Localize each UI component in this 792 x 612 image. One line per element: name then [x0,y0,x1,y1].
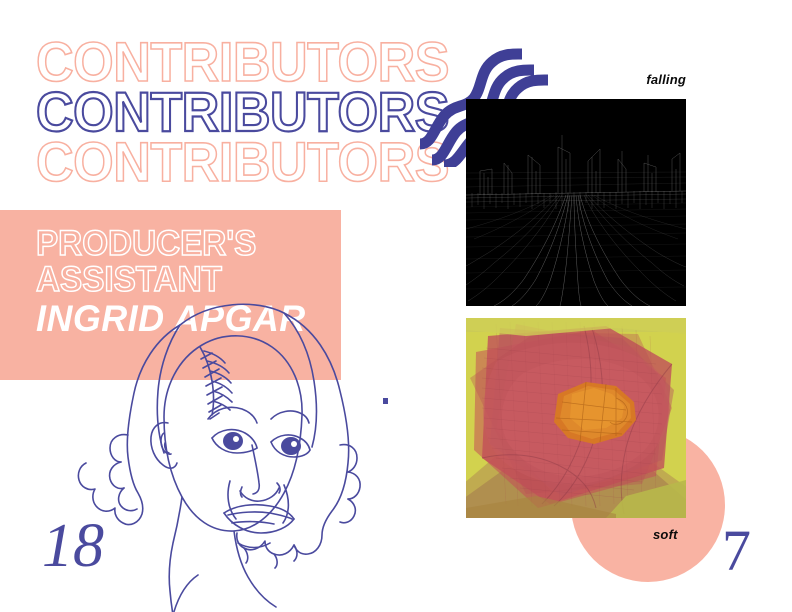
page-canvas: CONTRIBUTORS CONTRIBUTORS CONTRIBUTORS P… [0,0,792,612]
role-line-2: ASSISTANT [36,262,222,297]
artwork-caption-soft: soft [653,527,678,542]
headline-line-3: CONTRIBUTORS [36,134,449,190]
portrait-illustration [60,295,405,612]
role-line-1: PRODUCER'S [36,226,256,261]
page-number-right: 7 [722,522,751,580]
page-number-left: 18 [42,515,104,577]
contributors-headline-stack: CONTRIBUTORS CONTRIBUTORS CONTRIBUTORS [0,34,420,194]
stray-ink-dot [383,398,388,404]
artwork-soft [466,318,686,518]
artwork-falling [466,99,686,306]
artwork-caption-falling: falling [556,72,686,87]
